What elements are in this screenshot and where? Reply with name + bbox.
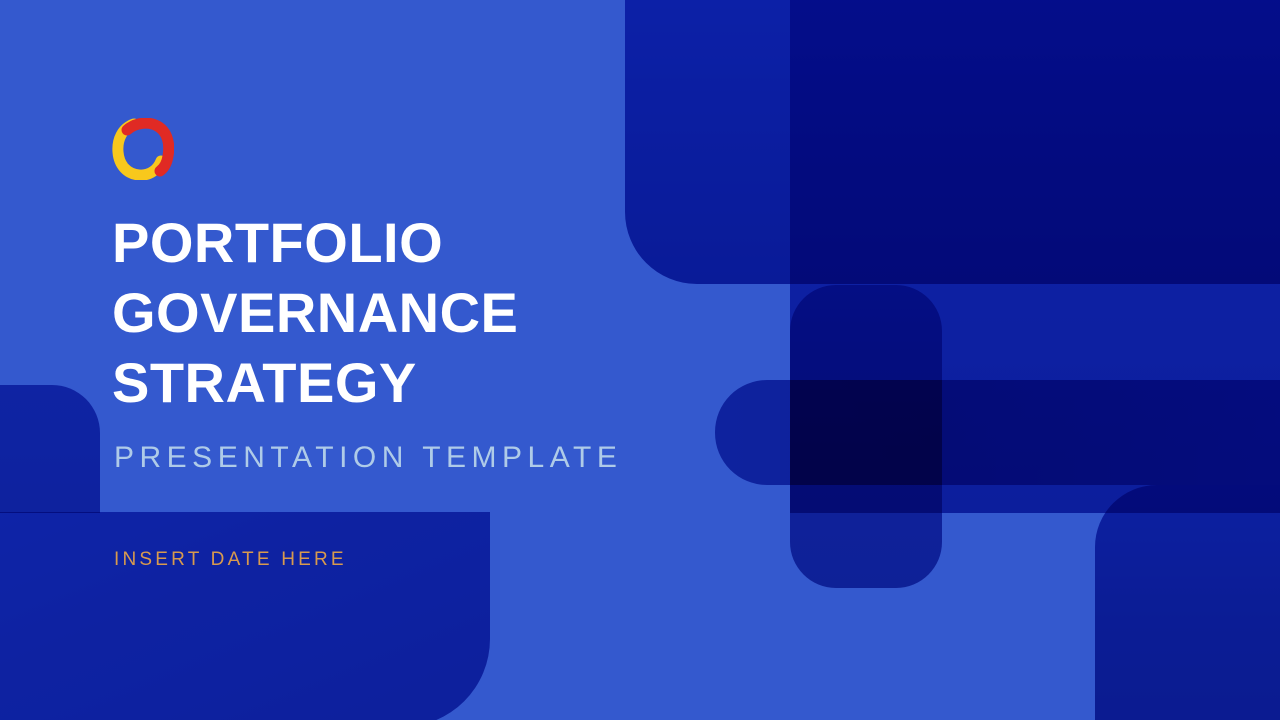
page-title: PORTFOLIO GOVERNANCE STRATEGY	[112, 208, 632, 418]
shape-overlap-cross	[790, 380, 942, 485]
shape-left-edge-block	[0, 385, 100, 513]
shape-top-right-block	[625, 0, 1280, 284]
shape-horizontal-rounded-band	[715, 380, 1280, 485]
shape-vertical-rounded-rect	[790, 285, 942, 588]
ring-logo-icon	[112, 118, 174, 180]
date-placeholder[interactable]: INSERT DATE HERE	[114, 546, 347, 574]
slide-subtitle: PRESENTATION TEMPLATE	[114, 438, 622, 478]
title-slide: PORTFOLIO GOVERNANCE STRATEGY PRESENTATI…	[0, 0, 1280, 720]
shape-right-wide-band	[790, 0, 1280, 513]
shape-bottom-right-band	[1095, 485, 1280, 720]
slide-content: PORTFOLIO GOVERNANCE STRATEGY PRESENTATI…	[112, 0, 672, 720]
